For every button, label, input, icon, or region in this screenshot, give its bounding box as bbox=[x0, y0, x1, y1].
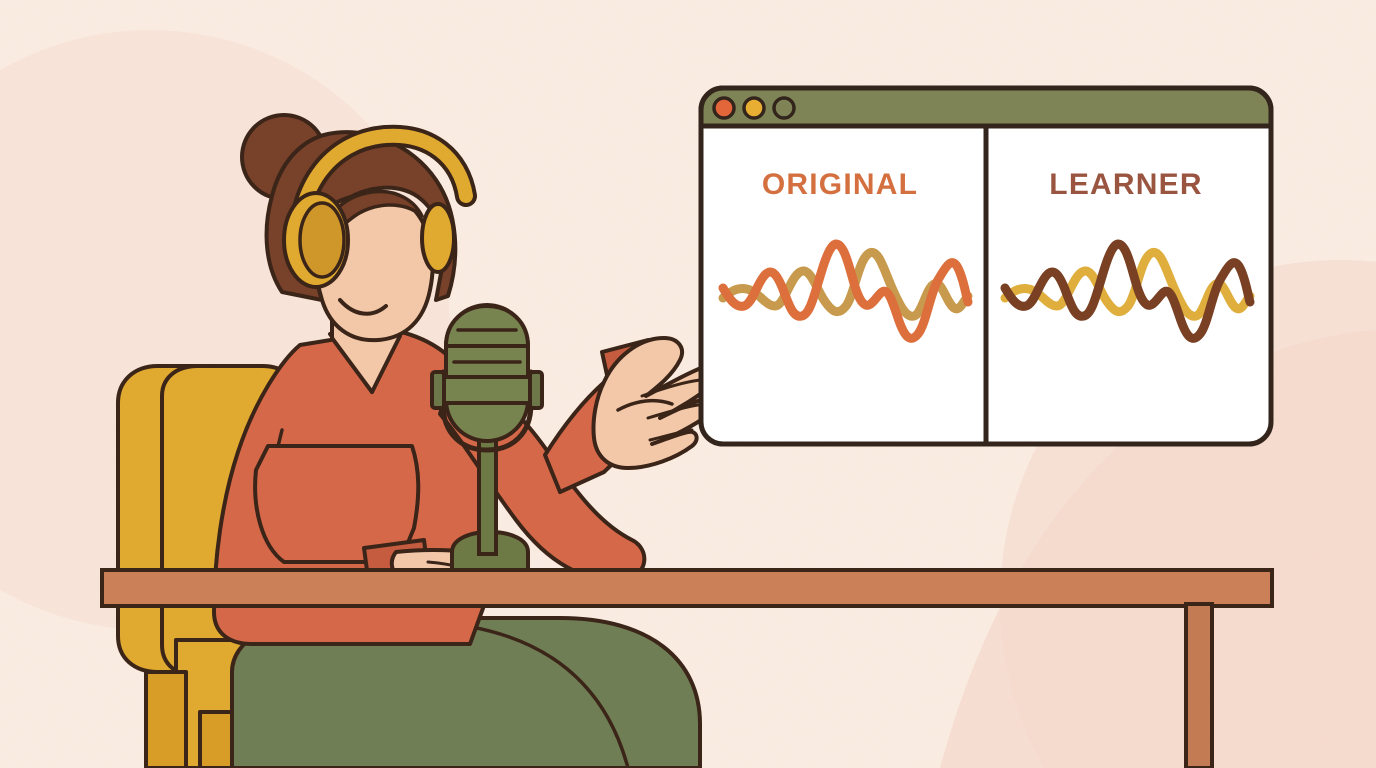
headphone-earcup-left-inner bbox=[300, 203, 344, 277]
comparison-window[interactable]: ORIGINAL LEARNER bbox=[701, 88, 1271, 444]
desk-top bbox=[102, 570, 1272, 606]
illustration-scene: ORIGINAL LEARNER bbox=[0, 0, 1376, 768]
learner-panel-label: LEARNER bbox=[1049, 168, 1202, 201]
mic-collar bbox=[437, 377, 537, 403]
window-titlebar bbox=[701, 88, 1271, 126]
mic-post-left bbox=[432, 372, 444, 408]
original-panel-label: ORIGINAL bbox=[762, 168, 918, 201]
headphone-earcup-right bbox=[422, 204, 454, 272]
close-dot[interactable] bbox=[714, 98, 734, 118]
mic-post-right bbox=[530, 372, 542, 408]
desk-leg-right bbox=[1186, 604, 1212, 768]
minimize-dot[interactable] bbox=[744, 98, 764, 118]
chair-leg-left bbox=[146, 672, 186, 768]
